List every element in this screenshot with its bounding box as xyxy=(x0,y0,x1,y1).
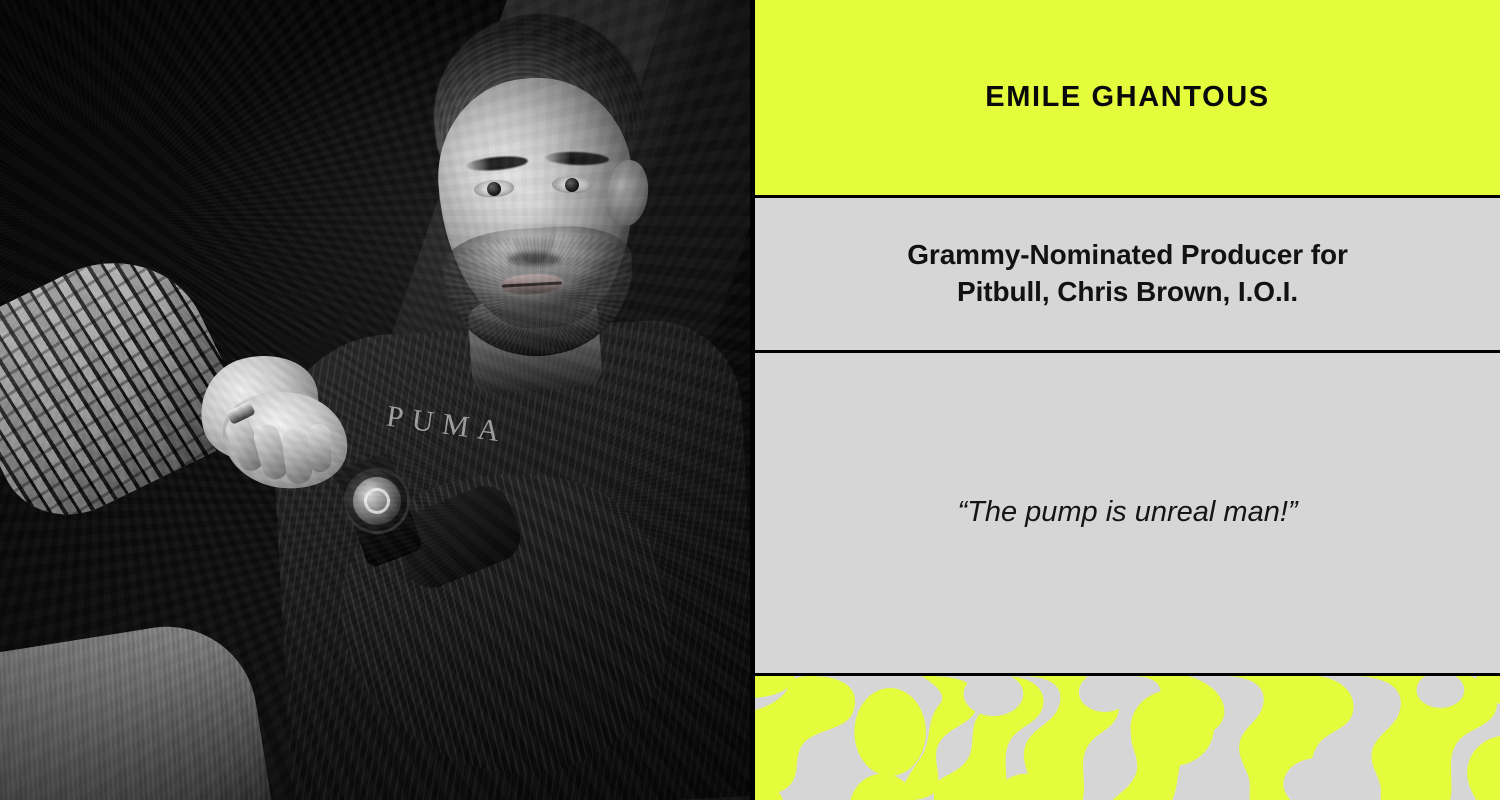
testimonial-card: PUMA xyxy=(0,0,1500,800)
info-panel: EMILE GHANTOUS Grammy-Nominated Producer… xyxy=(750,0,1500,800)
portrait-subject: PUMA xyxy=(0,0,750,800)
role-line-2: Pitbull, Chris Brown, I.O.I. xyxy=(957,276,1298,307)
testimonial-quote: “The pump is unreal man!” xyxy=(957,494,1297,532)
person-name: EMILE GHANTOUS xyxy=(985,82,1270,114)
cushion-texture xyxy=(0,614,275,800)
eye-right xyxy=(552,176,592,194)
role-line-1: Grammy-Nominated Producer for xyxy=(907,239,1348,270)
person-role: Grammy-Nominated Producer for Pitbull, C… xyxy=(907,237,1348,311)
quote-band: “The pump is unreal man!” xyxy=(755,353,1500,676)
pupil-left xyxy=(487,182,502,197)
pupil-right xyxy=(565,178,579,192)
portrait-photo: PUMA xyxy=(0,0,750,800)
finger xyxy=(307,424,332,473)
role-band: Grammy-Nominated Producer for Pitbull, C… xyxy=(755,198,1500,353)
name-band: EMILE GHANTOUS xyxy=(755,0,1500,198)
organic-blob-pattern-icon xyxy=(755,676,1500,800)
decorative-pattern-band xyxy=(755,676,1500,800)
